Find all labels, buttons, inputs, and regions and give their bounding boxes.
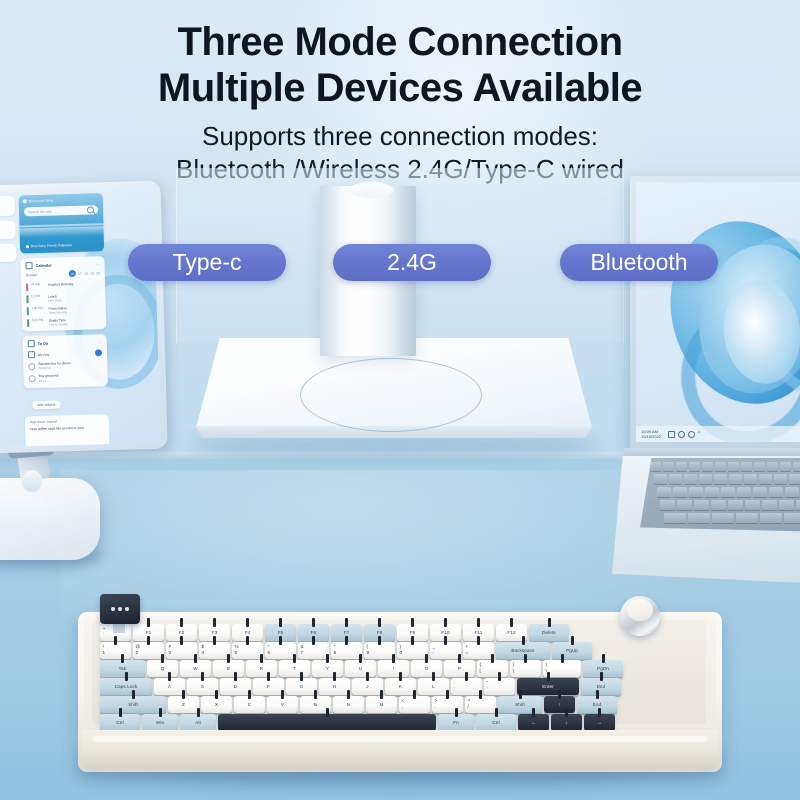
- key-legend-upper: :: [454, 680, 455, 685]
- event-sub: Team Meeting: [48, 310, 67, 315]
- laptop-key[interactable]: [664, 513, 686, 523]
- laptop-key[interactable]: [728, 462, 739, 471]
- widget-card[interactable]: Photos See all: [0, 244, 16, 264]
- event-sub: Curl Art Studio: [49, 323, 68, 328]
- chevron-up-icon[interactable]: ^: [698, 432, 700, 437]
- switch-stem: [532, 708, 535, 717]
- laptop-key[interactable]: [714, 474, 727, 484]
- key-legend: F7: [344, 630, 350, 635]
- key-legend-upper: #: [169, 644, 172, 649]
- event-time: All day: [31, 283, 45, 287]
- key-legend-lower: ,: [402, 704, 403, 709]
- key-legend: End: [597, 684, 605, 689]
- monitor-base-ring: [300, 358, 482, 432]
- wave-overlay: [20, 226, 104, 237]
- pin-icon: [26, 245, 29, 248]
- switch-stem: [411, 618, 414, 627]
- key-legend: C: [248, 702, 251, 707]
- switch-stem: [125, 672, 128, 681]
- key-legend: P: [458, 666, 461, 671]
- laptop-taskbar[interactable]: 10:09 AM 10/16/2022 ^: [636, 426, 800, 442]
- bing-icon: [23, 199, 27, 203]
- switch-stem: [458, 654, 461, 663]
- event-color-bar: [26, 295, 28, 303]
- widget-todo-title: To Do: [38, 342, 49, 346]
- laptop-key[interactable]: [762, 500, 777, 510]
- switch-stem: [548, 618, 551, 627]
- event-color-bar: [26, 283, 28, 291]
- laptop-key[interactable]: [673, 487, 687, 497]
- switch-stem: [565, 708, 568, 717]
- key-legend: F11: [475, 630, 483, 635]
- switch-stem: [147, 636, 150, 645]
- switch-stem: [132, 690, 135, 699]
- laptop-device: 10:09 AM 10/16/2022 ^: [622, 176, 800, 586]
- badge-2-4g[interactable]: 2.4G: [333, 244, 491, 281]
- switch-stem: [281, 690, 284, 699]
- laptop-key[interactable]: [699, 474, 712, 484]
- laptop-key[interactable]: [741, 462, 752, 471]
- widget-title: Weather: [0, 225, 12, 230]
- key-legend: Delete: [542, 630, 556, 635]
- more-icon[interactable]: ···: [98, 340, 102, 344]
- key-legend: ↑: [558, 702, 560, 707]
- switch-stem: [444, 618, 447, 627]
- widget-todo[interactable]: To Do ··· My Day Sandwiches for dinner S…: [23, 334, 108, 388]
- switch-stem: [455, 708, 458, 717]
- laptop-key[interactable]: [711, 500, 726, 510]
- switch-stem: [547, 672, 550, 681]
- switch-stem: [201, 672, 204, 681]
- key-legend: F2: [179, 630, 185, 635]
- event-color-bar: [27, 319, 29, 327]
- calendar-day[interactable]: 19: [90, 271, 94, 275]
- widget-calendar-title: Calendar: [35, 263, 51, 267]
- key-legend-upper: _: [433, 644, 436, 649]
- laptop-key[interactable]: [650, 462, 661, 471]
- key-legend: Caps Lock: [115, 684, 138, 689]
- laptop-key[interactable]: [729, 474, 742, 484]
- switch-stem: [479, 690, 482, 699]
- event-time: 6:00 PM: [32, 319, 46, 323]
- switch-stem: [519, 690, 522, 699]
- widget-search-input[interactable]: Search the web: [24, 205, 98, 216]
- key-legend: Ctrl: [492, 720, 500, 725]
- key-legend: F12: [507, 630, 515, 635]
- key-legend-upper: $: [202, 644, 205, 649]
- taskbar-date: 10/16/2022: [641, 434, 661, 439]
- key-legend: F9: [410, 630, 416, 635]
- key-legend: Tab: [119, 666, 127, 671]
- mechanical-keyboard[interactable]: ~`F1F2F3F4F5F6F7F8F9F10F11F12Delete!1@2#…: [78, 594, 722, 780]
- widget-value: $ 9.24: [0, 200, 11, 207]
- list-icon: [28, 351, 35, 358]
- key-legend: F8: [377, 630, 383, 635]
- event-sub: Bill's Bistro: [48, 298, 62, 302]
- switch-stem: [267, 672, 270, 681]
- key-legend-upper: %: [235, 644, 239, 649]
- switch-stem: [561, 654, 564, 663]
- key-legend: N: [347, 702, 350, 707]
- key-legend: Win: [156, 720, 164, 725]
- calendar-day-selected[interactable]: 16: [69, 270, 76, 277]
- keyboard-front-highlight: [92, 736, 708, 742]
- switch-stem: [197, 708, 200, 717]
- key-legend: S: [201, 684, 204, 689]
- laptop-key[interactable]: [689, 462, 700, 471]
- laptop-key[interactable]: [784, 513, 800, 523]
- key-legend-upper: @: [136, 644, 141, 649]
- laptop-key[interactable]: [705, 487, 719, 497]
- laptop-key[interactable]: [712, 513, 734, 523]
- key-legend-upper: >: [435, 698, 438, 703]
- switch-stem: [312, 636, 315, 645]
- laptop-key[interactable]: [736, 513, 758, 523]
- sound-icon[interactable]: [678, 431, 685, 438]
- laptop-key[interactable]: [753, 487, 767, 497]
- key-legend: V: [281, 702, 284, 707]
- key-legend: I: [393, 666, 394, 671]
- key-legend: End: [593, 702, 601, 707]
- switch-stem: [345, 618, 348, 627]
- event-color-bar: [27, 307, 29, 315]
- add-widgets-button[interactable]: Add widgets: [32, 400, 60, 409]
- laptop-key[interactable]: [688, 513, 710, 523]
- calendar-month: October: [26, 273, 38, 277]
- switch-stem: [399, 672, 402, 681]
- tablet-stand-hinge: [22, 470, 42, 492]
- event-title: Angela's Birthday: [48, 282, 74, 287]
- switch-stem: [602, 654, 605, 663]
- switch-stem: [392, 654, 395, 663]
- key-legend: X: [215, 702, 218, 707]
- switch-stem: [248, 690, 251, 699]
- laptop-key[interactable]: [657, 487, 671, 497]
- laptop-screen: 10:09 AM 10/16/2022 ^: [636, 182, 800, 442]
- switch-stem: [347, 690, 350, 699]
- widget-sub: 1.4 °C: [0, 231, 12, 236]
- widget-search-title: Microsoft Bing: [29, 199, 53, 204]
- key-legend: Alt: [195, 720, 201, 725]
- key-legend: Backspace: [511, 648, 534, 653]
- key-legend: D: [234, 684, 237, 689]
- switch-stem: [558, 690, 561, 699]
- key-legend-upper: ~: [103, 626, 106, 631]
- key-legend-upper: ): [400, 644, 402, 649]
- key-legend: ←: [531, 720, 536, 725]
- key-legend-upper: ?: [468, 698, 471, 703]
- key-legend-lower: ;: [454, 686, 455, 691]
- todo-item-sub: Shopping: [38, 366, 71, 371]
- switch-stem: [495, 708, 498, 717]
- search-icon: [87, 206, 94, 213]
- switch-stem: [359, 654, 362, 663]
- switch-stem: [114, 636, 117, 645]
- key-legend: Y: [326, 666, 329, 671]
- key-legend: ↓: [565, 720, 567, 725]
- switch-stem: [279, 618, 282, 627]
- key-legend: F3: [212, 630, 218, 635]
- switch-stem: [510, 618, 513, 627]
- laptop-key[interactable]: [715, 462, 726, 471]
- widget-search-header: Microsoft Bing: [23, 196, 99, 204]
- key-legend-lower: =: [466, 650, 469, 655]
- key-legend-upper: &: [301, 644, 304, 649]
- switch-stem: [180, 618, 183, 627]
- tablet-screen: $ 9.24 Showing 24 today Weather 1.4 °C P…: [0, 186, 161, 448]
- key-legend-lower: -: [433, 650, 435, 655]
- badge-type-c[interactable]: Type-c: [128, 244, 286, 281]
- laptop-key[interactable]: [689, 487, 703, 497]
- key-legend-lower: 9: [367, 650, 370, 655]
- key-legend-lower: 4: [202, 650, 205, 655]
- laptop-key[interactable]: [669, 474, 682, 484]
- key-legend-upper: +: [466, 644, 469, 649]
- laptop-key[interactable]: [654, 474, 667, 484]
- switch-stem: [121, 654, 124, 663]
- laptop-key[interactable]: [676, 462, 687, 471]
- checkbox-icon[interactable]: [28, 363, 35, 370]
- key-legend-upper: (: [367, 644, 369, 649]
- switch-stem: [119, 708, 122, 717]
- key-legend-upper: <: [402, 698, 405, 703]
- key-legend: W: [193, 666, 197, 671]
- laptop-key[interactable]: [780, 462, 791, 471]
- tablet-device: $ 9.24 Showing 24 today Weather 1.4 °C P…: [0, 181, 168, 454]
- key-legend: G: [300, 684, 304, 689]
- rotary-knob-top[interactable]: [627, 599, 653, 621]
- todo-item-text: Buy groceries: [39, 374, 59, 379]
- switch-stem: [432, 672, 435, 681]
- widget-sub: See all: [0, 254, 12, 259]
- laptop-key[interactable]: [702, 462, 713, 471]
- key-legend-lower: /: [468, 704, 469, 709]
- laptop-key[interactable]: [759, 474, 772, 484]
- switch-stem: [180, 636, 183, 645]
- switch-stem: [477, 618, 480, 627]
- switch-stem: [498, 672, 501, 681]
- switch-stem: [161, 654, 164, 663]
- laptop-key[interactable]: [677, 500, 692, 510]
- novelty-dot-icon: [125, 607, 129, 611]
- laptop-key[interactable]: [760, 513, 782, 523]
- switch-stem: [194, 654, 197, 663]
- switch-stem: [326, 654, 329, 663]
- calendar-icon: [25, 262, 32, 269]
- switch-stem: [411, 636, 414, 645]
- laptop-key[interactable]: [744, 474, 757, 484]
- todo-list-name: My Day: [38, 352, 49, 356]
- key-legend-lower: 7: [301, 650, 304, 655]
- switch-stem: [366, 672, 369, 681]
- laptop-key[interactable]: [779, 500, 794, 510]
- key-legend-upper: !: [103, 644, 104, 649]
- switch-stem: [522, 636, 525, 645]
- key-legend-lower: 3: [169, 650, 172, 655]
- key-legend: M: [380, 702, 384, 707]
- event-time: 12 PM: [31, 295, 45, 299]
- key-legend-lower: .: [435, 704, 436, 709]
- switch-stem: [524, 654, 527, 663]
- laptop-key[interactable]: [796, 500, 800, 510]
- key-legend: F10: [441, 630, 449, 635]
- switch-stem: [571, 636, 574, 645]
- key-legend: K: [399, 684, 402, 689]
- widget-calendar[interactable]: Calendar ··· October 16 17 18 19 20: [20, 256, 106, 332]
- switch-stem: [260, 654, 263, 663]
- switch-stem: [333, 672, 336, 681]
- calendar-day[interactable]: 18: [84, 271, 88, 275]
- calendar-day[interactable]: 20: [96, 271, 100, 275]
- laptop-key[interactable]: [769, 487, 783, 497]
- novelty-dot-icon: [111, 607, 115, 611]
- key-legend-upper: ^: [268, 644, 270, 649]
- switch-stem: [345, 636, 348, 645]
- key-legend: Z: [182, 702, 185, 707]
- switch-stem: [159, 708, 162, 717]
- key-legend-lower: 5: [235, 650, 238, 655]
- switch-stem: [213, 618, 216, 627]
- laptop-key[interactable]: [728, 500, 743, 510]
- widget-sub: Showing 24 today: [0, 208, 11, 213]
- switch-stem: [279, 636, 282, 645]
- network-icon[interactable]: [668, 431, 675, 438]
- key-legend: F5: [278, 630, 284, 635]
- laptop-key[interactable]: [737, 487, 751, 497]
- switch-stem: [293, 654, 296, 663]
- laptop-key[interactable]: [663, 462, 674, 471]
- key-legend: F1: [146, 630, 152, 635]
- switch-stem: [380, 690, 383, 699]
- laptop-key[interactable]: [793, 462, 800, 471]
- key-legend-lower: ': [487, 686, 488, 691]
- key-legend-lower: 1: [103, 650, 106, 655]
- tablet-stand-base: [0, 478, 100, 560]
- news-source: Wall Street Journal: [30, 418, 104, 424]
- key-legend: Enter: [542, 684, 553, 689]
- laptop-key[interactable]: [660, 500, 675, 510]
- wifi-icon[interactable]: [688, 431, 695, 438]
- switch-stem: [246, 636, 249, 645]
- headline-line-1: Three Mode Connection: [0, 22, 800, 62]
- key-legend: →: [597, 720, 602, 725]
- calendar-day[interactable]: 17: [78, 271, 82, 275]
- location-label: Bora Bora, French Polynesia: [31, 243, 72, 248]
- widget-title: Photos: [0, 248, 12, 253]
- checkbox-icon[interactable]: [29, 375, 36, 382]
- novelty-dot-icon: [118, 607, 122, 611]
- switch-stem: [182, 690, 185, 699]
- key-legend: PgUp: [566, 648, 578, 653]
- switch-stem: [465, 672, 468, 681]
- switch-stem: [477, 636, 480, 645]
- switch-stem: [600, 672, 603, 681]
- laptop-key[interactable]: [684, 474, 697, 484]
- switch-stem: [227, 654, 230, 663]
- key-legend: H: [333, 684, 336, 689]
- todo-icon: [28, 340, 35, 347]
- headline-line-2: Multiple Devices Available: [0, 68, 800, 108]
- key-legend-upper: ": [487, 680, 489, 685]
- key-legend-lower: 8: [334, 650, 337, 655]
- key-legend: O: [425, 666, 429, 671]
- key-legend-lower: 6: [268, 650, 271, 655]
- key-legend: R: [260, 666, 263, 671]
- more-icon[interactable]: ···: [96, 262, 100, 266]
- event-time: 1:30 PM: [31, 307, 45, 311]
- key-legend: A: [168, 684, 171, 689]
- key-legend: Fn: [453, 720, 459, 725]
- switch-stem: [168, 672, 171, 681]
- switch-stem: [312, 618, 315, 627]
- laptop-key[interactable]: [789, 474, 800, 484]
- laptop-key[interactable]: [767, 462, 778, 471]
- widget-card[interactable]: Weather 1.4 °C: [0, 221, 16, 241]
- escape-novelty-keycap[interactable]: [100, 594, 140, 624]
- key-legend: Ctrl: [116, 720, 124, 725]
- monitor-neck-top: [349, 182, 393, 198]
- switch-stem: [213, 636, 216, 645]
- key-legend: F4: [245, 630, 251, 635]
- switch-stem: [598, 708, 601, 717]
- taskbar-tray[interactable]: ^: [668, 431, 700, 438]
- key-legend-lower: 0: [400, 650, 403, 655]
- switch-stem: [413, 690, 416, 699]
- switch-stem: [147, 618, 150, 627]
- badge-bluetooth[interactable]: Bluetooth: [560, 244, 718, 281]
- key-legend-lower: ]: [513, 668, 514, 673]
- switch-stem: [234, 672, 237, 681]
- key-legend: B: [314, 702, 317, 707]
- news-headline: How coffee naps like proven to your: [30, 425, 104, 431]
- laptop-key[interactable]: [745, 500, 760, 510]
- switch-stem: [326, 708, 329, 717]
- switch-stem: [215, 690, 218, 699]
- laptop-key[interactable]: [774, 474, 787, 484]
- key-legend: F: [267, 684, 270, 689]
- laptop-key[interactable]: [694, 500, 709, 510]
- tablet-widget-column: Microsoft Bing Search the web Bora Bora,…: [19, 193, 110, 447]
- calendar-event[interactable]: 6:00 PM Studio Time Curl Art Studio: [22, 315, 106, 331]
- subheadline-line-1: Supports three connection modes:: [0, 120, 800, 153]
- widget-news[interactable]: Wall Street Journal How coffee naps like…: [25, 414, 110, 448]
- switch-stem: [378, 618, 381, 627]
- laptop-key[interactable]: [785, 487, 799, 497]
- key-legend: L: [432, 684, 435, 689]
- product-banner: $ 9.24 Showing 24 today Weather 1.4 °C P…: [0, 0, 800, 800]
- key-legend: Shift: [515, 702, 525, 707]
- key-legend: J: [366, 684, 368, 689]
- key-legend-lower: 2: [136, 650, 139, 655]
- switch-stem: [491, 654, 494, 663]
- switch-stem: [596, 690, 599, 699]
- key-legend: T: [293, 666, 296, 671]
- key-legend-lower: `: [103, 632, 105, 637]
- laptop-key[interactable]: [721, 487, 735, 497]
- key-legend: F6: [311, 630, 317, 635]
- key-legend: E: [227, 666, 230, 671]
- calendar-days: 16 17 18 19 20: [69, 269, 100, 277]
- key-legend-upper: |: [546, 662, 547, 667]
- widget-card[interactable]: $ 9.24 Showing 24 today: [0, 196, 15, 218]
- widget-search-location: Bora Bora, French Polynesia: [26, 243, 72, 248]
- laptop-keyboard[interactable]: [640, 458, 800, 532]
- todo-item[interactable]: Buy groceries Tasks: [24, 371, 108, 388]
- add-task-button[interactable]: [95, 350, 102, 357]
- widget-search[interactable]: Microsoft Bing Search the web Bora Bora,…: [19, 193, 105, 253]
- widget-search-placeholder: Search the web: [28, 209, 52, 214]
- laptop-key[interactable]: [754, 462, 765, 471]
